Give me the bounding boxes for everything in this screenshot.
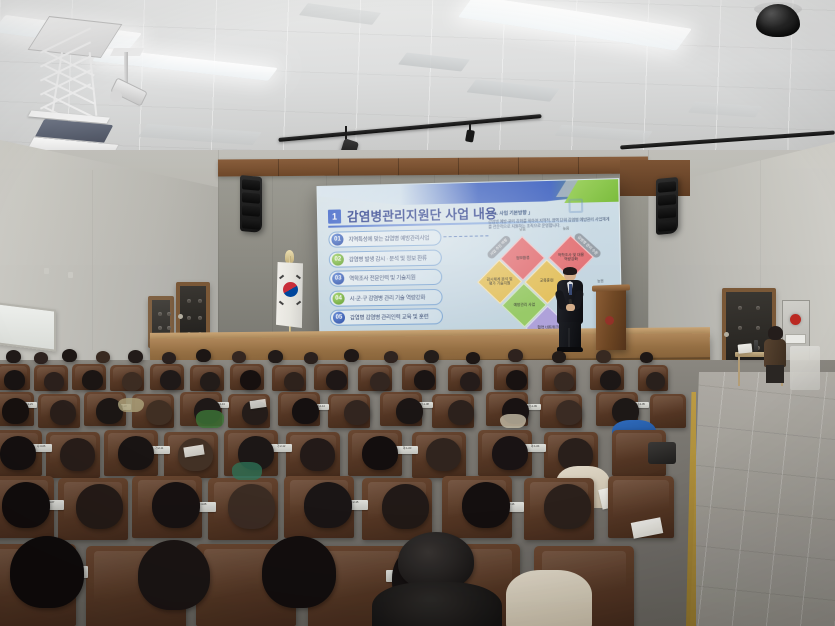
audience-head bbox=[44, 372, 64, 391]
audience-clothing-teal bbox=[232, 462, 262, 480]
audience-head bbox=[362, 436, 398, 470]
audience-head bbox=[152, 482, 200, 528]
table-leg bbox=[738, 356, 740, 386]
audience-head bbox=[268, 350, 283, 363]
audience-head bbox=[300, 438, 335, 471]
audience-head bbox=[240, 370, 261, 390]
seat[interactable] bbox=[650, 394, 686, 428]
audience-head bbox=[556, 400, 582, 425]
audience-head bbox=[138, 540, 210, 610]
presenter-trousers bbox=[559, 322, 581, 350]
slide-section-number: 1 bbox=[328, 209, 341, 223]
presenter-hands bbox=[566, 304, 575, 311]
fire-alarm-icon[interactable] bbox=[790, 314, 801, 325]
audience-head bbox=[460, 372, 480, 391]
audience-head bbox=[466, 352, 480, 364]
audience-seating: 다-1-21 다-1-22 다-2-13 다-2-14 라-1-08 라-1-0… bbox=[0, 358, 700, 626]
audience-clothing-green bbox=[196, 410, 224, 428]
audience-clothing-beige bbox=[500, 414, 526, 428]
audience-head bbox=[424, 350, 439, 363]
audience-head bbox=[2, 398, 29, 424]
audience-head bbox=[344, 400, 370, 425]
audience-head bbox=[382, 484, 429, 529]
audience-head bbox=[554, 372, 574, 391]
wall-wood-trim bbox=[620, 160, 690, 196]
audience-head bbox=[96, 351, 110, 363]
audience-head bbox=[82, 370, 103, 390]
presenter-hair bbox=[563, 267, 577, 275]
audience-head bbox=[228, 484, 275, 529]
audience-head bbox=[492, 436, 528, 470]
staff-legs bbox=[766, 365, 784, 383]
audience-head bbox=[0, 436, 36, 470]
audience-head bbox=[370, 372, 390, 391]
audience-head bbox=[4, 370, 25, 390]
door-handle-icon[interactable] bbox=[178, 314, 183, 319]
audience-head bbox=[426, 438, 461, 471]
presenter bbox=[553, 268, 587, 350]
audience-head bbox=[552, 351, 566, 363]
audience-head bbox=[414, 370, 435, 390]
audience-head bbox=[396, 398, 423, 424]
staff-torso bbox=[764, 339, 786, 367]
water-bottle bbox=[754, 340, 758, 352]
bullet-badge: 05 bbox=[333, 312, 345, 324]
taeguk-symbol-icon bbox=[283, 282, 298, 297]
audience-head bbox=[122, 372, 142, 391]
line-array-speaker-left bbox=[240, 175, 262, 233]
table-papers bbox=[738, 343, 753, 353]
bullet-badge: 04 bbox=[332, 292, 344, 304]
slide-connector-dashes bbox=[443, 235, 488, 237]
audience-clothing-beige bbox=[118, 398, 144, 412]
audience-head bbox=[162, 352, 176, 364]
audience-head bbox=[196, 349, 211, 362]
slide-bullet-list: 01 지역특성에 맞는 감염병 예방관리사업 02 감염병 발생 감시 · 분석… bbox=[328, 229, 443, 330]
list-item: 01 지역특성에 맞는 감염병 예방관리사업 bbox=[328, 229, 441, 248]
audience-head bbox=[60, 438, 95, 471]
audience-head bbox=[544, 484, 591, 529]
bullet-text: 감염병 발생 감시 · 분석 및 정보 환류 bbox=[349, 253, 427, 263]
audience-head bbox=[200, 372, 220, 391]
list-item: 03 역학조사 전문인력 및 기술지원 bbox=[329, 269, 442, 287]
audience-fur-collar bbox=[372, 582, 502, 626]
scissor-lift-mechanism bbox=[44, 48, 98, 118]
audience-head bbox=[160, 370, 181, 390]
audience-head bbox=[10, 536, 84, 608]
audience-head bbox=[292, 398, 319, 424]
audience-head bbox=[76, 484, 123, 529]
aisle-floor-tiles bbox=[690, 372, 835, 626]
wall-fixture bbox=[68, 272, 73, 278]
audience-head bbox=[646, 372, 665, 390]
bullet-badge: 01 bbox=[331, 233, 343, 245]
bullet-text: 시·군·구 감염병 관리 기술 역량강화 bbox=[350, 293, 426, 302]
audience-head bbox=[2, 482, 50, 528]
wall-fixture bbox=[44, 268, 49, 274]
audience-head bbox=[284, 372, 304, 391]
folding-chair bbox=[790, 346, 820, 390]
list-item: 05 감염병 감염병 관리인력 교육 및 훈련 bbox=[330, 308, 443, 326]
list-item: 04 시·군·구 감염병 관리 기술 역량강화 bbox=[329, 289, 442, 307]
dome-security-camera-icon bbox=[756, 4, 800, 37]
bullet-badge: 02 bbox=[332, 253, 344, 265]
wall-seam bbox=[92, 170, 93, 350]
fire-cabinet-label bbox=[785, 334, 806, 344]
audience-head bbox=[34, 352, 48, 364]
audience-coat-cream bbox=[506, 570, 592, 626]
audience-head bbox=[232, 351, 246, 363]
matrix-tick-top-left: 낮음 bbox=[519, 226, 526, 231]
seat-number-plate: 마-1-03 bbox=[396, 446, 418, 454]
audience-head bbox=[304, 482, 352, 528]
audience-head bbox=[118, 436, 154, 470]
staff-hair bbox=[768, 326, 783, 340]
audience-head bbox=[508, 349, 523, 362]
audience-head bbox=[50, 400, 76, 425]
audience-head bbox=[384, 351, 398, 363]
audience-head bbox=[146, 400, 172, 425]
whiteboard bbox=[0, 302, 56, 351]
podium-emblem-icon bbox=[605, 316, 614, 325]
audience-head bbox=[596, 350, 611, 363]
list-item: 02 감염병 발생 감시 · 분석 및 정보 환류 bbox=[329, 249, 442, 267]
audience-head bbox=[640, 352, 653, 363]
bullet-text: 감염병 감염병 관리인력 교육 및 훈련 bbox=[350, 313, 429, 322]
audience-head bbox=[462, 482, 510, 528]
audience-head bbox=[62, 349, 77, 362]
bullet-badge: 03 bbox=[332, 273, 344, 285]
audience-head bbox=[344, 349, 359, 362]
audience-head bbox=[6, 350, 21, 363]
audience-head bbox=[262, 536, 336, 608]
bullet-text: 지역특성에 맞는 감염병 예방관리사업 bbox=[348, 234, 429, 244]
presenter-tie bbox=[569, 284, 572, 295]
audience-head bbox=[600, 370, 621, 390]
audience-head bbox=[506, 370, 527, 390]
audience-bag bbox=[648, 442, 676, 464]
wall-wood-trim bbox=[218, 156, 648, 176]
auditorium-photo: 1 감염병관리지원단 사업 내용 01 지역특성에 맞는 감염병 예방관리사업 … bbox=[0, 0, 835, 626]
audience-head bbox=[326, 370, 347, 390]
bullet-text: 역학조사 전문인력 및 기술지원 bbox=[349, 273, 415, 282]
line-array-speaker-right bbox=[656, 177, 678, 235]
audience-head bbox=[448, 400, 474, 425]
audience-head bbox=[128, 350, 143, 363]
audience-head bbox=[304, 352, 318, 364]
staff-member bbox=[762, 328, 788, 384]
